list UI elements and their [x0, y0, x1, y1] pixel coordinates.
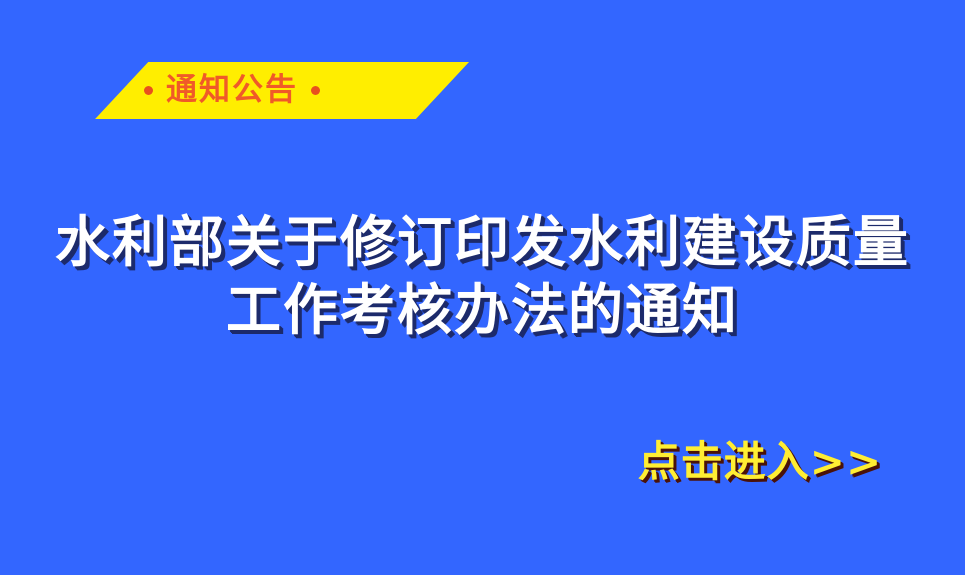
enter-link[interactable]: 点击进入>>: [610, 437, 910, 487]
page-title-line-1: 水利部关于修订印发水利建设质量: [0, 208, 965, 276]
dot-separator-left-icon: [144, 86, 153, 95]
banner-content: 通知公告: [42, 62, 416, 119]
page-title-line-2: 工作考核办法的通知: [0, 276, 965, 344]
dot-separator-right-icon: [311, 86, 320, 95]
banner-label: 通知公告: [166, 75, 298, 106]
page-title: 水利部关于修订印发水利建设质量 工作考核办法的通知: [0, 208, 965, 344]
notice-poster: 通知公告 水利部关于修订印发水利建设质量 工作考核办法的通知 点击进入>>: [0, 0, 965, 575]
enter-link-label[interactable]: 点击进入>>: [638, 437, 882, 486]
notice-category-banner: 通知公告: [42, 62, 416, 119]
